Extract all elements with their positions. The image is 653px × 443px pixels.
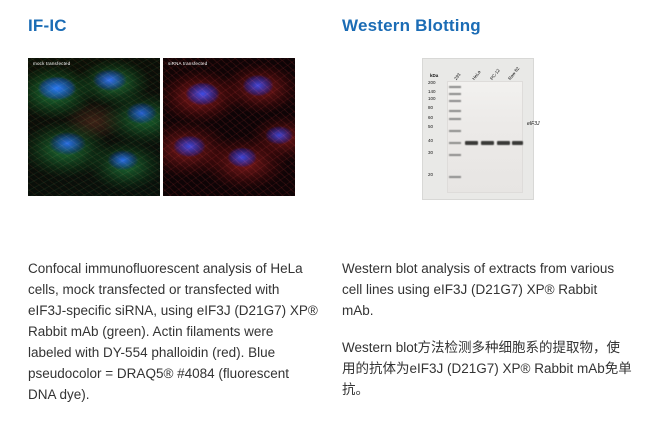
if-ic-sirna-panel: siRNA transfected [163,58,295,196]
western-blot-ladder-mark [449,86,461,88]
western-blot-gel [447,81,523,193]
western-blot-marker-80: 80 [428,106,444,111]
western-blot-marker-30: 30 [428,151,444,156]
western-blot-ladder-mark [449,100,461,102]
western-blot-target-label: eIF3J [527,121,540,127]
western-blot-band [497,141,510,145]
western-blot-lane-labels: 293 HeLa PC-12 Raw 82 [447,61,529,81]
western-blot-ladder-mark [449,110,461,112]
caption-if-ic-paragraph-1: Confocal immunofluorescent analysis of H… [28,258,318,405]
western-blot-marker-100: 100 [428,97,444,102]
western-blot-unit-label: kDa [430,73,438,78]
western-blot-ladder-mark [449,176,461,178]
panel-western-blotting: Western Blotting kDa 293 HeLa PC-12 Raw … [342,0,642,200]
western-blot-lane-label-hela: HeLa [471,69,482,81]
if-ic-image: mock transfected siRNA transfected [28,58,295,196]
western-blot-marker-50: 50 [428,125,444,130]
figure-page: IF-IC mock transfected siRNA transfected… [0,0,653,443]
western-blot-ladder-mark [449,130,461,132]
caption-western-blotting-paragraph-1: Western blot analysis of extracts from v… [342,258,632,321]
western-blot-marker-200: 200 [428,81,444,86]
western-blot-marker-40: 40 [428,139,444,144]
caption-western-blotting: Western blot analysis of extracts from v… [342,258,632,416]
western-blot-band [465,141,478,145]
western-blot-ladder-mark [449,142,461,144]
panel-title-western-blotting: Western Blotting [342,16,642,36]
panel-if-ic: IF-IC mock transfected siRNA transfected [28,0,328,196]
if-ic-figure-wrap: mock transfected siRNA transfected [28,58,328,196]
caption-western-blotting-paragraph-2: Western blot方法检测多种细胞系的提取物，使用的抗体为eIF3J (D… [342,337,632,400]
western-blot-ladder-mark [449,93,461,95]
western-blot-lane-label-293: 293 [453,72,462,81]
western-blot-ladder-mark [449,118,461,120]
western-blot-marker-140: 140 [428,90,444,95]
western-blot-band [512,141,523,145]
western-blot-ladder-mark [449,154,461,156]
western-blot-band [481,141,494,145]
western-blot-lane-label-pc12: PC-12 [489,68,501,81]
if-ic-mock-panel: mock transfected [28,58,160,196]
western-blot-marker-20: 20 [428,173,444,178]
western-blot-image: kDa 293 HeLa PC-12 Raw 82 200 140 100 80… [422,58,534,200]
if-ic-sirna-label: siRNA transfected [168,61,207,66]
western-blot-figure-wrap: kDa 293 HeLa PC-12 Raw 82 200 140 100 80… [342,58,642,200]
caption-if-ic: Confocal immunofluorescent analysis of H… [28,258,318,421]
panel-title-if-ic: IF-IC [28,16,328,36]
western-blot-lane-label-raw82: Raw 82 [507,66,520,81]
western-blot-marker-60: 60 [428,116,444,121]
western-blot-marker-axis: 200 140 100 80 60 50 40 30 20 [428,81,444,178]
if-ic-mock-label: mock transfected [33,61,70,66]
